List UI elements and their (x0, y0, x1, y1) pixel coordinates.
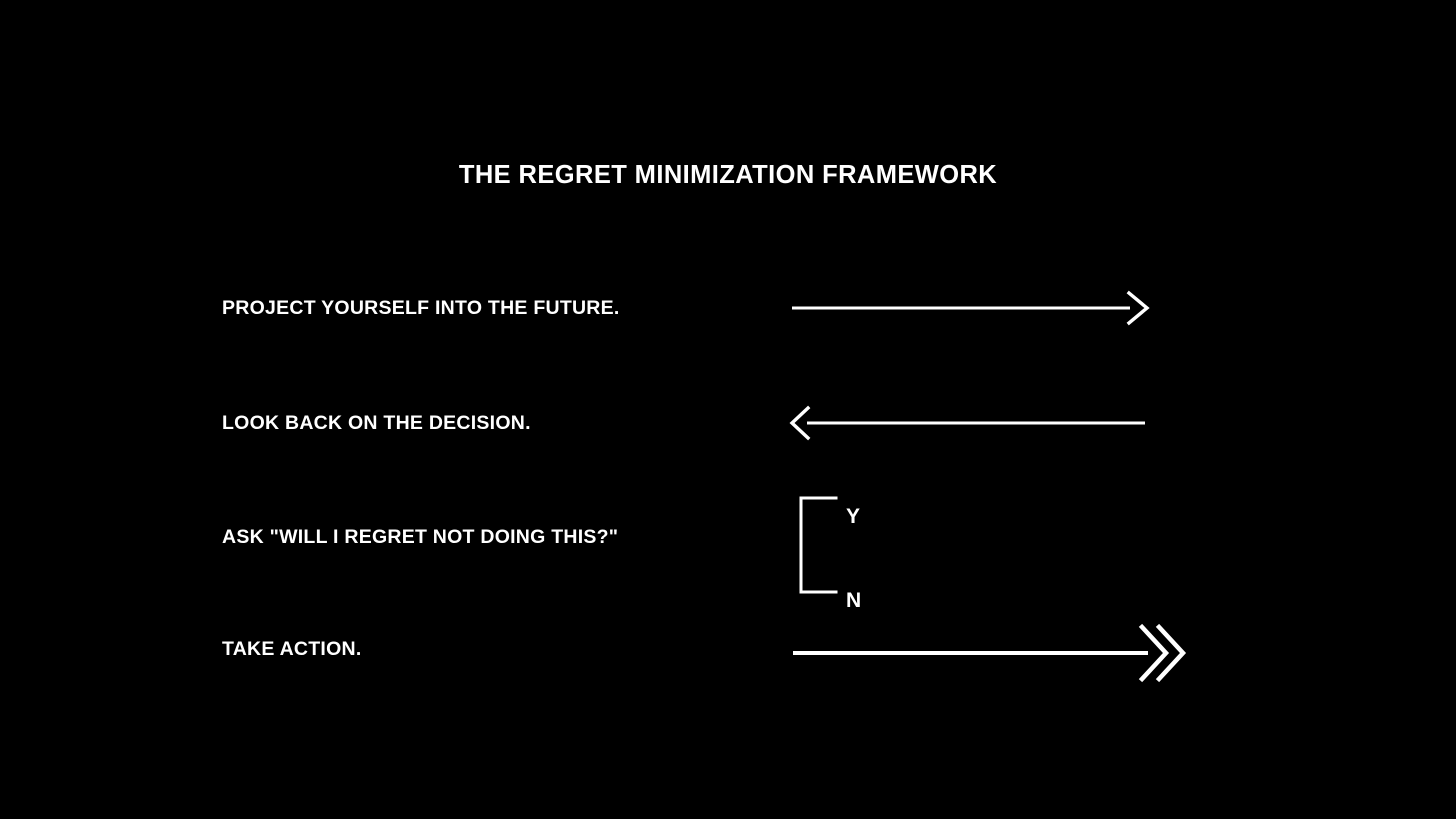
step-graphic-1 (790, 278, 1220, 338)
double-chevron-arrow-icon (790, 613, 1220, 693)
slide-canvas: THE REGRET MINIMIZATION FRAMEWORK PROJEC… (0, 0, 1456, 819)
step-row-1: PROJECT YOURSELF INTO THE FUTURE. (0, 278, 1456, 338)
step-row-3: ASK "WILL I REGRET NOT DOING THIS?" Y N (0, 507, 1456, 567)
step-label-1: PROJECT YOURSELF INTO THE FUTURE. (222, 278, 620, 338)
step-label-4: TAKE ACTION. (222, 619, 362, 679)
forward-arrow-icon (790, 278, 1220, 338)
backward-arrow-icon (790, 393, 1220, 453)
step-graphic-4 (790, 619, 1220, 679)
step-label-3: ASK "WILL I REGRET NOT DOING THIS?" (222, 507, 618, 567)
step-row-4: TAKE ACTION. (0, 619, 1456, 679)
page-title: THE REGRET MINIMIZATION FRAMEWORK (0, 158, 1456, 192)
step-row-2: LOOK BACK ON THE DECISION. (0, 393, 1456, 453)
branch-label-no: N (846, 590, 861, 611)
step-graphic-3: Y N (790, 497, 1220, 627)
step-label-2: LOOK BACK ON THE DECISION. (222, 393, 531, 453)
step-graphic-2 (790, 393, 1220, 453)
branch-label-yes: Y (846, 506, 860, 527)
